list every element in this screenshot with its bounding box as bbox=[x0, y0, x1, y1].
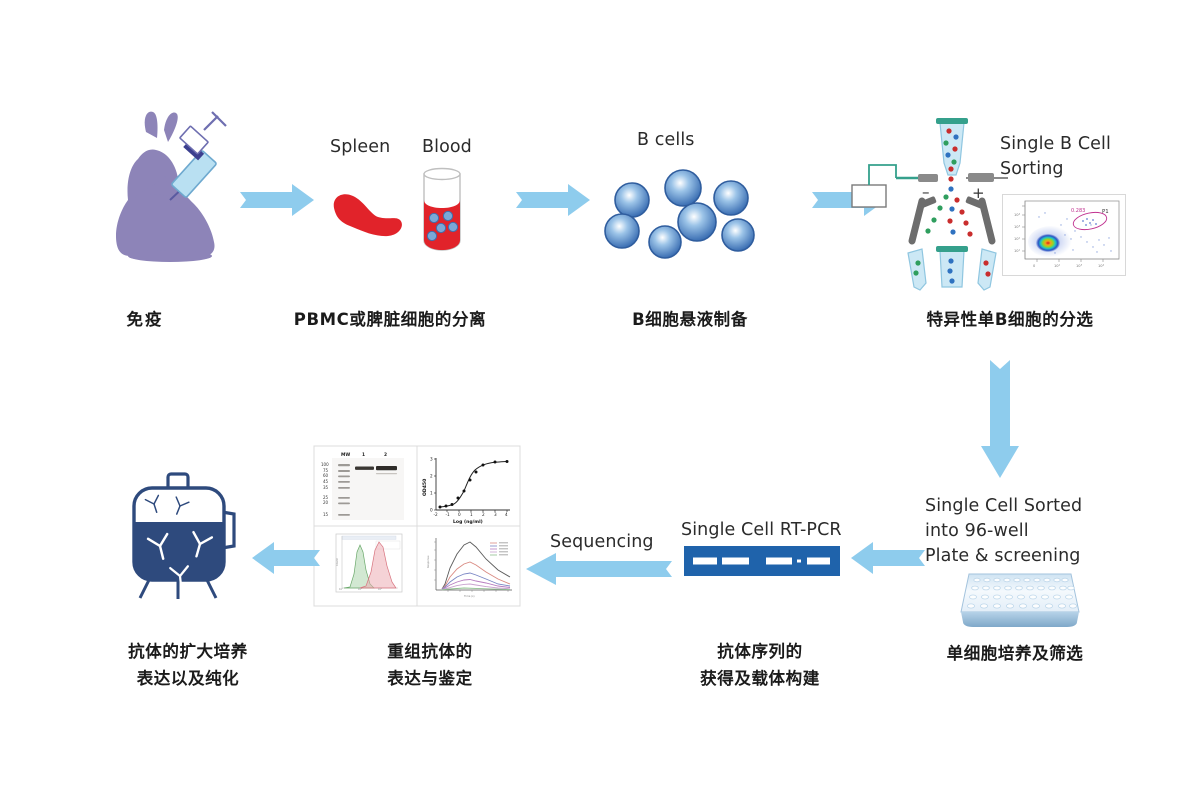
svg-text:0: 0 bbox=[430, 508, 433, 513]
electrode-minus-label: – bbox=[922, 183, 930, 201]
characterization-panels: MW12 1007560 453525 2015 bbox=[314, 446, 520, 606]
arrow-screening-to-rtpcr bbox=[845, 540, 925, 576]
svg-text:Log (ng/ml): Log (ng/ml) bbox=[453, 519, 483, 525]
flow-histogram-icon: 10⁰10²10⁴ Count bbox=[335, 534, 402, 592]
workflow-diagram: 免疫 Spleen Blood PBMC或脾脏细胞的分离 bbox=[0, 0, 1200, 803]
label-sorting-en: Single B Cell Sorting bbox=[1000, 132, 1130, 182]
svg-text:Time (s): Time (s) bbox=[464, 594, 475, 598]
svg-text:45: 45 bbox=[323, 479, 329, 484]
svg-text:-2: -2 bbox=[434, 512, 439, 517]
svg-text:OD450: OD450 bbox=[422, 479, 428, 496]
microplate-96-icon bbox=[955, 558, 1085, 632]
sds-page-icon: MW12 1007560 453525 2015 bbox=[321, 452, 404, 520]
blood-tube-icon bbox=[416, 166, 468, 254]
svg-text:Count: Count bbox=[335, 558, 339, 566]
svg-text:-1: -1 bbox=[446, 512, 451, 517]
svg-text:10¹: 10¹ bbox=[1014, 249, 1021, 253]
bioreactor-icon bbox=[118, 470, 246, 600]
svg-text:60: 60 bbox=[323, 473, 329, 478]
svg-text:10⁴: 10⁴ bbox=[1098, 264, 1105, 268]
svg-text:Response: Response bbox=[426, 555, 430, 568]
facs-gate-label: P1 bbox=[1102, 209, 1109, 215]
label-b-cells: B cells bbox=[637, 128, 695, 153]
label-blood: Blood bbox=[422, 135, 472, 160]
electrode-plus-label: + bbox=[972, 184, 985, 202]
label-characterization: 重组抗体的 表达与鉴定 bbox=[320, 638, 540, 692]
arrow-sorting-to-screening bbox=[978, 360, 1022, 480]
label-spleen: Spleen bbox=[330, 135, 390, 160]
svg-text:10³: 10³ bbox=[1076, 264, 1083, 268]
svg-text:10⁰: 10⁰ bbox=[339, 588, 343, 591]
svg-text:2: 2 bbox=[430, 474, 433, 479]
svg-text:10⁴: 10⁴ bbox=[378, 588, 382, 591]
svg-text:MW: MW bbox=[341, 452, 350, 458]
label-suspension: B细胞悬液制备 bbox=[600, 306, 780, 333]
b-cell-cluster bbox=[600, 168, 780, 268]
syringe-icon bbox=[170, 112, 226, 200]
svg-text:4: 4 bbox=[505, 512, 508, 517]
cell-sorter-icon: – + bbox=[896, 105, 1008, 290]
b-cell-icon bbox=[605, 170, 754, 258]
label-production: 抗体的扩大培养 表达以及纯化 bbox=[78, 638, 298, 692]
svg-text:10²: 10² bbox=[1054, 264, 1061, 268]
arrow-rtpcr-to-characterization bbox=[522, 552, 672, 586]
svg-text:10²: 10² bbox=[358, 588, 362, 591]
svg-text:1: 1 bbox=[362, 452, 365, 458]
svg-text:35: 35 bbox=[323, 485, 329, 490]
label-isolation: PBMC或脾脏细胞的分离 bbox=[270, 306, 510, 333]
svg-text:2: 2 bbox=[384, 452, 387, 458]
svg-text:2: 2 bbox=[482, 512, 485, 517]
arrow-isolation-to-suspension bbox=[516, 182, 592, 218]
label-screening: 单细胞培养及筛选 bbox=[900, 640, 1130, 667]
svg-text:20: 20 bbox=[323, 500, 329, 505]
label-immunization: 免疫 bbox=[70, 306, 220, 333]
svg-text:3: 3 bbox=[494, 512, 497, 517]
label-rtpcr: 抗体序列的 获得及载体构建 bbox=[645, 638, 875, 692]
svg-text:3: 3 bbox=[430, 457, 433, 462]
spleen-icon bbox=[326, 186, 406, 242]
svg-text:10²: 10² bbox=[1014, 237, 1021, 241]
svg-text:1: 1 bbox=[470, 512, 473, 517]
immunization-illustration bbox=[108, 104, 248, 279]
label-rtpcr-en: Single Cell RT-PCR bbox=[681, 518, 842, 543]
arrow-characterization-to-production bbox=[248, 540, 320, 576]
svg-text:0: 0 bbox=[1033, 264, 1036, 268]
svg-text:1: 1 bbox=[430, 491, 433, 496]
dna-gel-icon bbox=[684, 546, 840, 576]
facs-percent-label: 0.283 bbox=[1071, 208, 1085, 214]
label-sorting: 特异性单B细胞的分选 bbox=[890, 306, 1130, 333]
facs-scatter-icon: 010² 10³10⁴ 10¹10² 10³10⁴ bbox=[1002, 194, 1126, 276]
svg-text:15: 15 bbox=[323, 512, 329, 517]
arrow-immunization-to-isolation bbox=[240, 182, 316, 218]
svg-text:100: 100 bbox=[321, 462, 329, 467]
svg-text:10³: 10³ bbox=[1014, 225, 1021, 229]
svg-text:0: 0 bbox=[458, 512, 461, 517]
svg-text:10⁴: 10⁴ bbox=[1014, 213, 1021, 217]
